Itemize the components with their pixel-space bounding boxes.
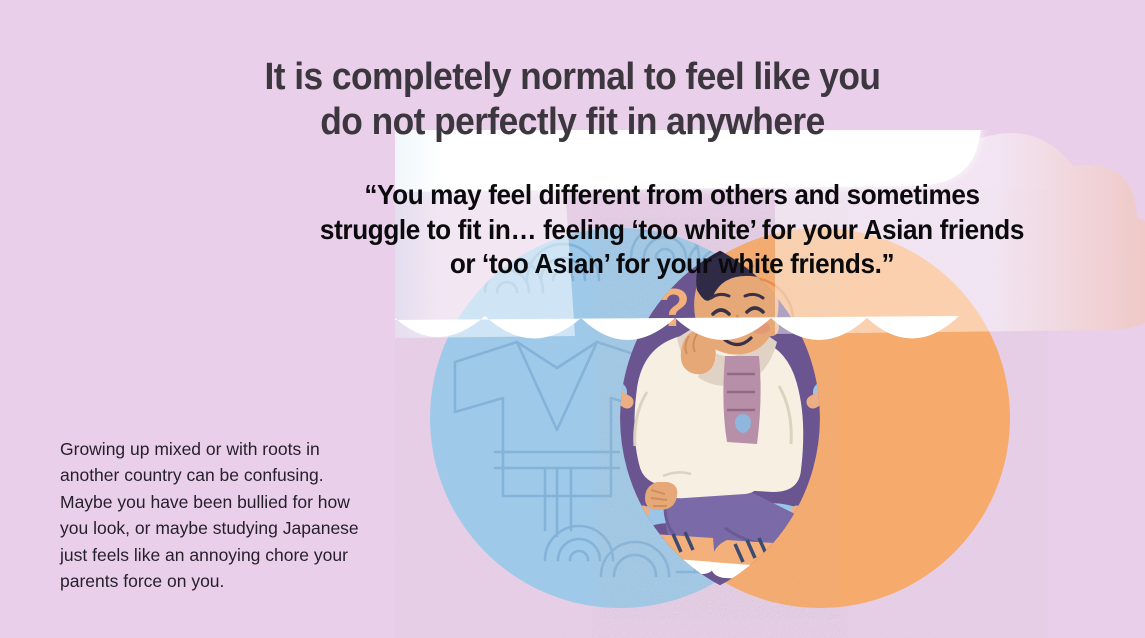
body-paragraph: Growing up mixed or with roots in anothe… xyxy=(60,436,420,596)
quote-text: “You may feel different from others and … xyxy=(260,178,1085,282)
infographic-slide: ? ? xyxy=(0,0,1145,638)
page-title: It is completely normal to feel like you… xyxy=(40,55,1105,145)
